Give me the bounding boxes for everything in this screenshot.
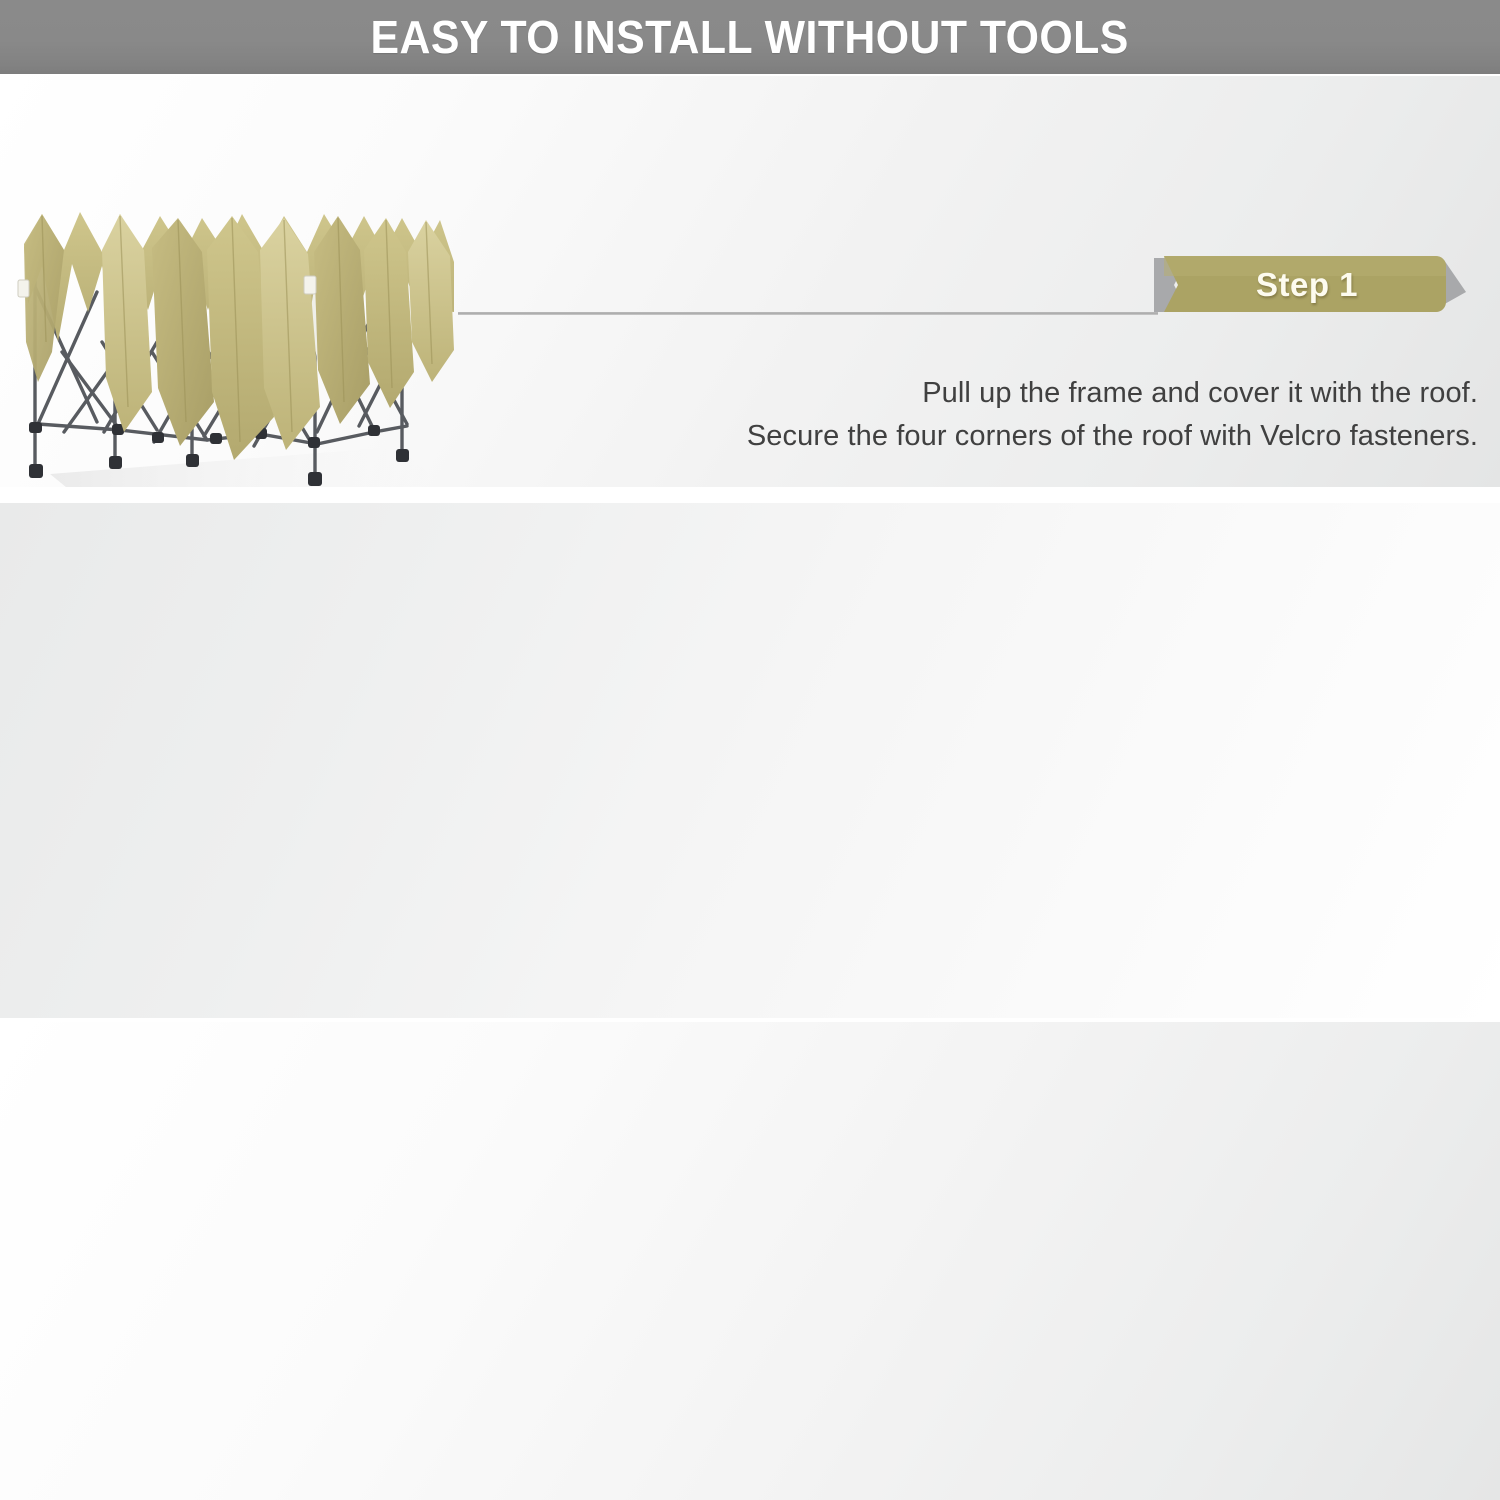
infographic-page: EASY TO INSTALL WITHOUT TOOLS xyxy=(0,0,1500,1500)
step-panel-2: Step 2 Pull up the frame xyxy=(0,503,1500,1018)
step-panel-1: Step 1 Pull up the frame and cover it wi… xyxy=(0,76,1500,487)
step-description-1: Pull up the frame and cover it with the … xyxy=(747,372,1478,458)
page-title: EASY TO INSTALL WITHOUT TOOLS xyxy=(371,10,1129,64)
step-badge-1: Step 1 xyxy=(1148,254,1466,316)
step-panel-3: Step 3 Push it up until the frame is com… xyxy=(0,1022,1500,1500)
canopy-image-step-1 xyxy=(2,192,472,487)
header-bar: EASY TO INSTALL WITHOUT TOOLS xyxy=(0,0,1500,74)
connector-line-step-1 xyxy=(458,312,1158,315)
